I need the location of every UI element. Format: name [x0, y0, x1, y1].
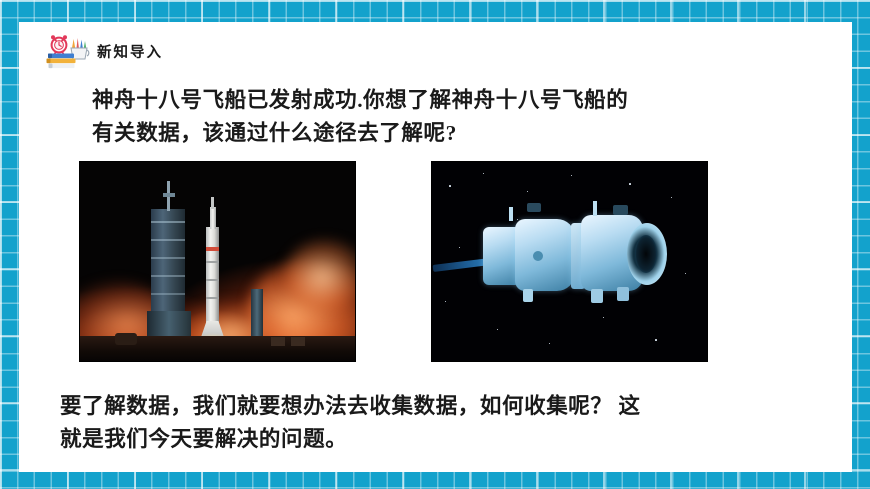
section-header-label: 新知导入 — [97, 41, 163, 62]
intro-paragraph: 神舟十八号飞船已发射成功.你想了解神舟十八号飞船的 有关数据，该通过什么途径去了… — [92, 84, 792, 150]
closing-paragraph: 要了解数据，我们就要想办法去收集数据，如何收集呢？ 这 就是我们今天要解决的问题… — [60, 390, 820, 456]
space-station-photo — [431, 161, 708, 362]
slide-canvas: 新知导入 神舟十八号飞船已发射成功.你想了解神舟十八号飞船的 有关数据，该通过什… — [19, 22, 852, 472]
slide: 新知导入 神舟十八号飞船已发射成功.你想了解神舟十八号飞船的 有关数据，该通过什… — [0, 0, 870, 489]
section-header: 新知导入 — [45, 32, 163, 70]
rocket-launch-photo — [79, 161, 356, 362]
books-alarm-clock-stationery-icon — [45, 32, 91, 70]
